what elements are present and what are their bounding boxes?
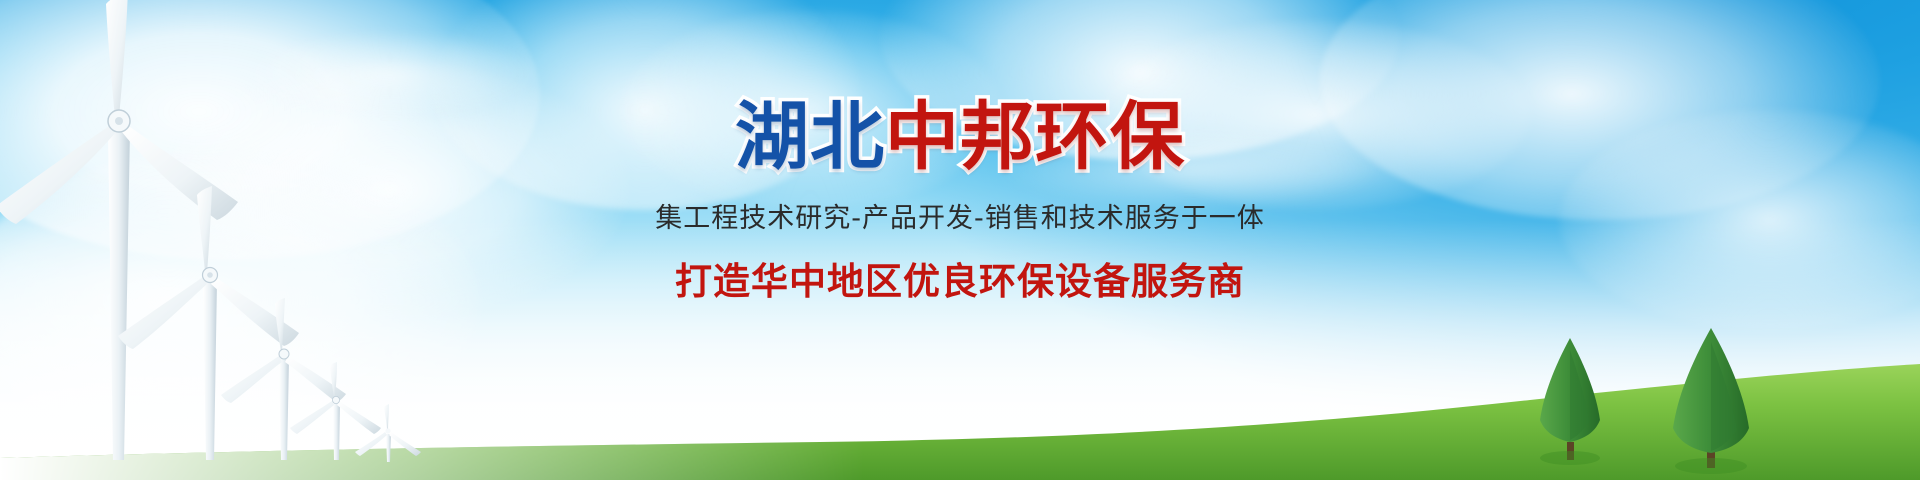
title-company: 中邦环保: [885, 94, 1185, 180]
tree-group: [1360, 280, 1920, 480]
banner-tagline: 打造华中地区优良环保设备服务商: [0, 251, 1920, 305]
hero-banner: 湖北中邦环保 集工程技术研究-产品开发-销售和技术服务于一体 打造华中地区优良环…: [0, 0, 1920, 480]
page-title: 湖北中邦环保: [0, 100, 1920, 174]
conifer-tree: [1540, 338, 1600, 465]
title-province: 湖北: [735, 94, 885, 180]
wind-turbine: [355, 404, 421, 462]
banner-subtitle: 集工程技术研究-产品开发-销售和技术服务于一体: [0, 196, 1920, 235]
conifer-tree: [1673, 328, 1749, 474]
banner-text-block: 湖北中邦环保 集工程技术研究-产品开发-销售和技术服务于一体 打造华中地区优良环…: [0, 100, 1920, 305]
wind-turbine: [221, 298, 346, 460]
